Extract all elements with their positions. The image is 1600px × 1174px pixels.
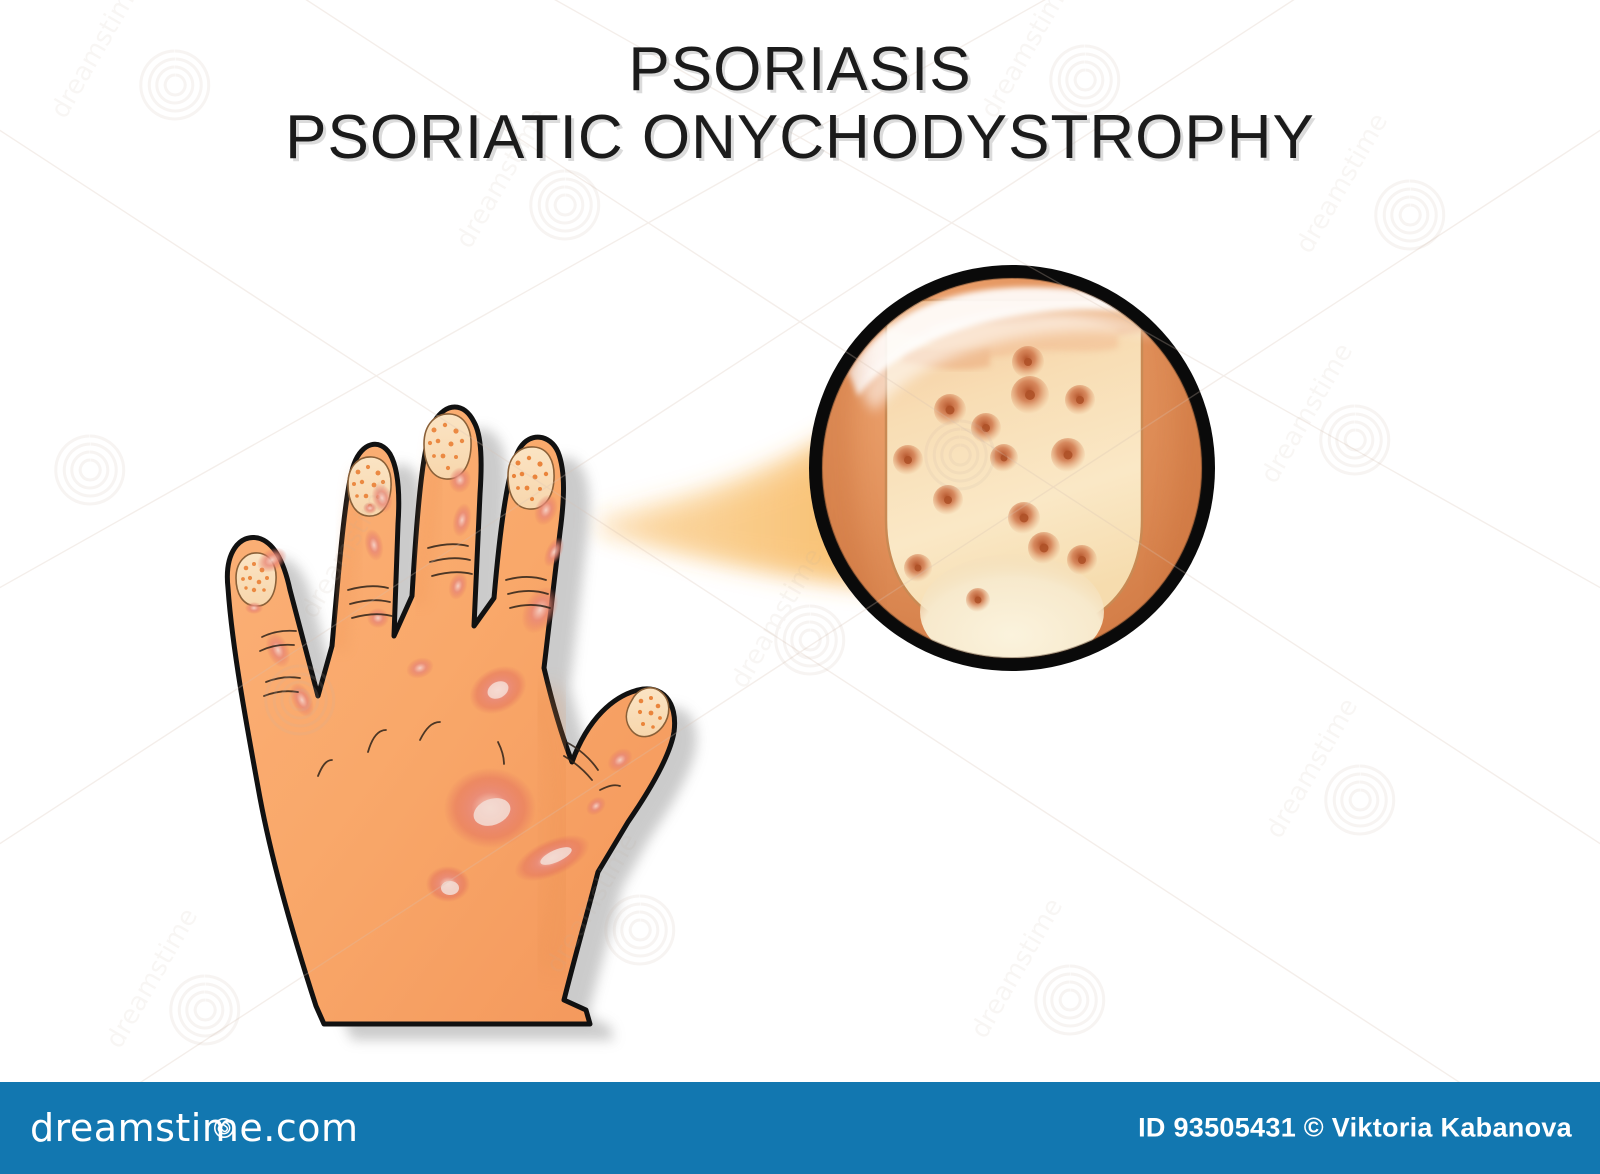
footer-bar: dreamstime.com ID 93505431 © Viktoria Ka… [0,1082,1600,1174]
psoriasis-illustration [0,0,1600,1174]
image-credit: ID 93505431 © Viktoria Kabanova [1138,1113,1572,1144]
spiral-icon [213,1117,235,1139]
dreamstime-logo-text: dreamstime.com [30,1109,358,1147]
magnified-nail-inset [809,265,1215,696]
illustration-canvas: dreamstime [0,0,1600,1174]
hand-illustration [227,407,696,1040]
dreamstime-logo[interactable]: dreamstime.com [30,1109,358,1147]
